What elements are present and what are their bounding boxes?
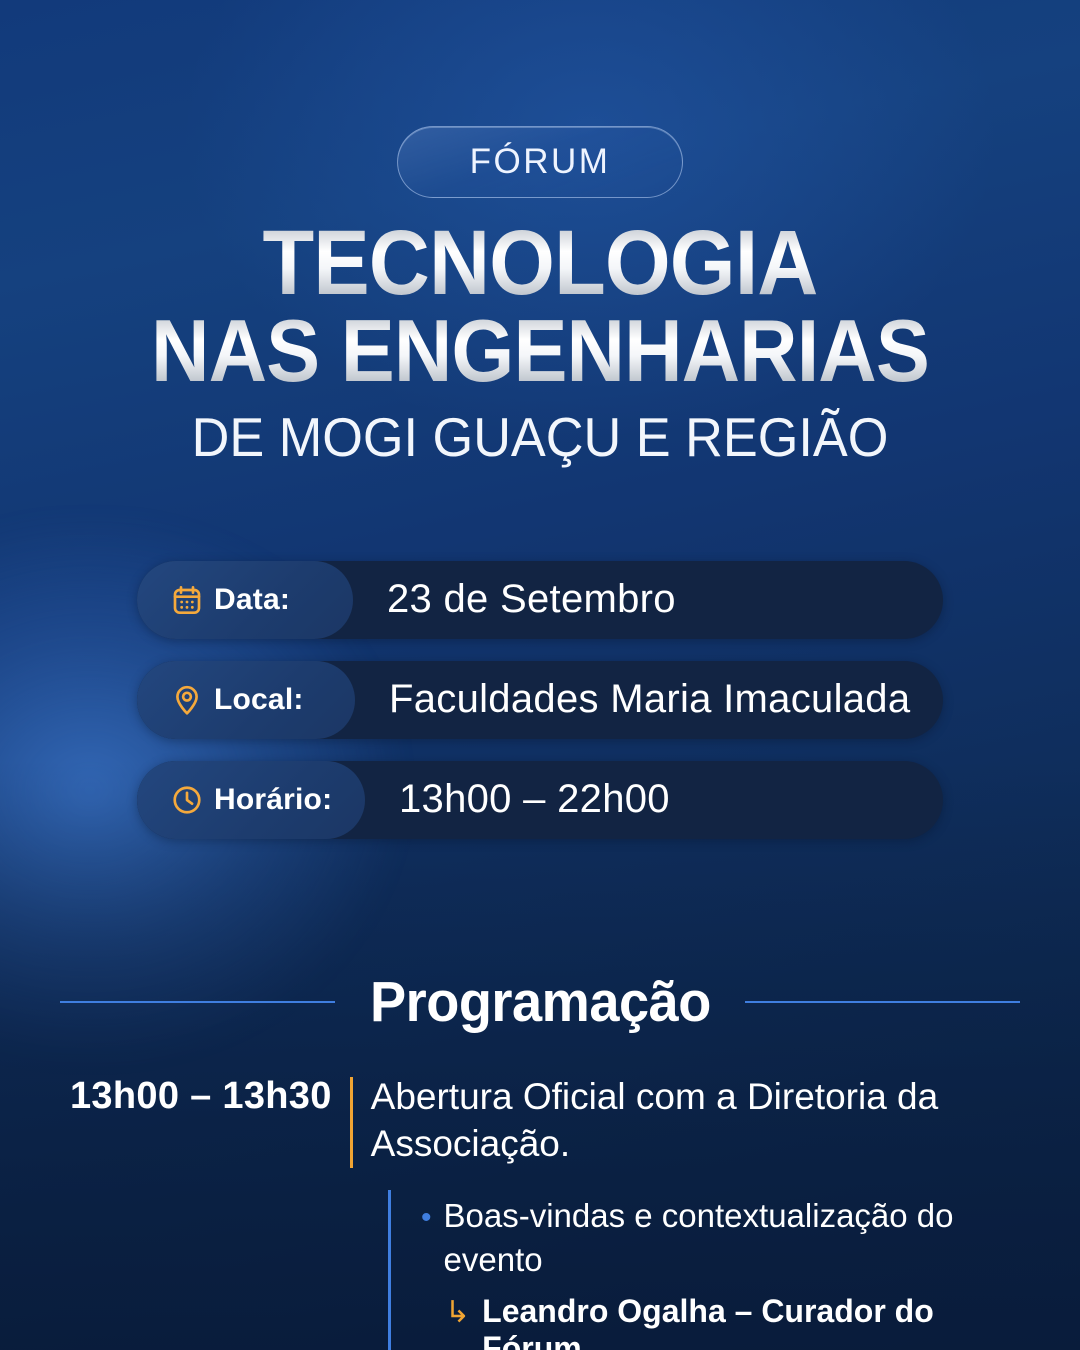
location-pin-icon [171, 684, 203, 716]
forum-badge: FÓRUM [397, 126, 683, 198]
info-label-text-time: Horário: [214, 783, 332, 817]
schedule-description: Abertura Oficial com a Diretoria da Asso… [371, 1073, 1020, 1168]
programacao-title: Programação [370, 969, 711, 1035]
programacao-heading: Programação [0, 969, 1080, 1035]
title-block: TECNOLOGIA NAS ENGENHARIAS DE MOGI GUAÇU… [0, 220, 1080, 469]
info-label-time: Horário: [137, 761, 365, 839]
title-subtitle: DE MOGI GUAÇU E REGIÃO [27, 405, 1053, 469]
event-poster: FÓRUM TECNOLOGIA NAS ENGENHARIAS DE MOGI… [0, 0, 1080, 1350]
info-row-date: Data: 23 de Setembro [137, 561, 943, 639]
info-value-date: 23 de Setembro [353, 577, 676, 622]
info-label-text-location: Local: [214, 683, 304, 717]
schedule-bullet: • Boas-vindas e contextualização do even… [421, 1194, 1020, 1283]
event-info-list: Data: 23 de Setembro Local: Faculdades M… [137, 561, 943, 839]
schedule-speaker-text: Leandro Ogalha – Curador do Fórum [482, 1293, 1020, 1350]
schedule-details: • Boas-vindas e contextualização do even… [388, 1190, 1020, 1350]
badge-container: FÓRUM [0, 0, 1080, 198]
info-value-location: Faculdades Maria Imaculada [355, 677, 910, 722]
heading-rule-right [745, 1001, 1020, 1003]
schedule-speaker: ↳ Leandro Ogalha – Curador do Fórum [421, 1293, 1020, 1350]
forum-badge-label: FÓRUM [470, 142, 611, 182]
info-label-text-date: Data: [214, 583, 290, 617]
schedule-entry: 13h00 – 13h30 Abertura Oficial com a Dir… [70, 1073, 1020, 1350]
schedule-time: 13h00 – 13h30 [70, 1073, 332, 1118]
schedule-separator [350, 1077, 353, 1168]
title-line-2: NAS ENGENHARIAS [43, 309, 1037, 393]
info-row-time: Horário: 13h00 – 22h00 [137, 761, 943, 839]
heading-rule-left [60, 1001, 335, 1003]
info-label-location: Local: [137, 661, 355, 739]
clock-icon [171, 784, 203, 816]
calendar-icon [171, 584, 203, 616]
schedule-list: 13h00 – 13h30 Abertura Oficial com a Dir… [0, 1073, 1080, 1350]
schedule-bullet-text: Boas-vindas e contextualização do evento [444, 1194, 1020, 1283]
info-label-date: Data: [137, 561, 353, 639]
arrow-down-right-icon: ↳ [445, 1295, 470, 1330]
info-value-time: 13h00 – 22h00 [365, 777, 670, 822]
info-row-location: Local: Faculdades Maria Imaculada [137, 661, 943, 739]
bullet-dot-icon: • [421, 1203, 432, 1233]
title-line-1: TECNOLOGIA [43, 220, 1037, 307]
